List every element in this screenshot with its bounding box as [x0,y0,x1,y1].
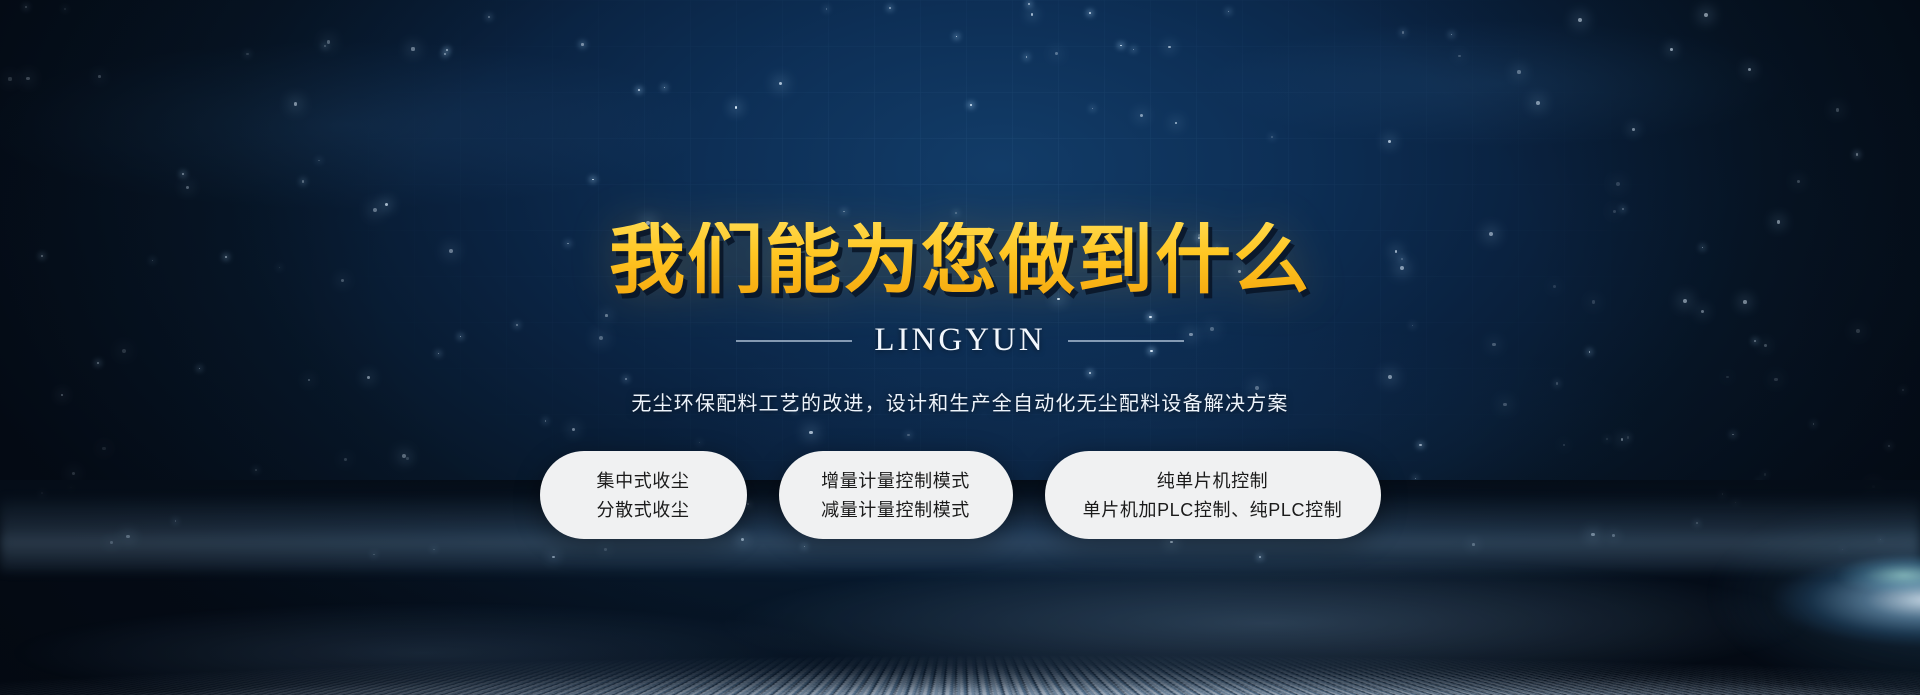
feature-card-line: 分散式收尘 [597,501,690,519]
feature-card-control-system[interactable]: 纯单片机控制 单片机加PLC控制、纯PLC控制 [1045,451,1381,539]
feature-card-line: 增量计量控制模式 [821,472,970,490]
feature-card-line: 单片机加PLC控制、纯PLC控制 [1083,501,1343,519]
divider-line-left [736,340,852,342]
hero-banner: 我们能为您做到什么 LINGYUN 无尘环保配料工艺的改进，设计和生产全自动化无… [0,0,1920,695]
feature-card-line: 集中式收尘 [597,472,690,490]
banner-content: 我们能为您做到什么 LINGYUN 无尘环保配料工艺的改进，设计和生产全自动化无… [0,0,1920,695]
divider-line-right [1068,340,1184,342]
feature-card-line: 减量计量控制模式 [821,501,970,519]
brand-row: LINGYUN [736,322,1183,359]
feature-card-metering-mode[interactable]: 增量计量控制模式 减量计量控制模式 [779,451,1013,539]
feature-card-line: 纯单片机控制 [1157,472,1269,490]
brand-name: LINGYUN [874,322,1045,359]
banner-headline: 我们能为您做到什么 [609,222,1311,298]
feature-card-dust-collection[interactable]: 集中式收尘 分散式收尘 [540,451,747,539]
feature-card-list: 集中式收尘 分散式收尘 增量计量控制模式 减量计量控制模式 纯单片机控制 单片机… [540,451,1381,539]
banner-tagline: 无尘环保配料工艺的改进，设计和生产全自动化无尘配料设备解决方案 [631,387,1288,416]
